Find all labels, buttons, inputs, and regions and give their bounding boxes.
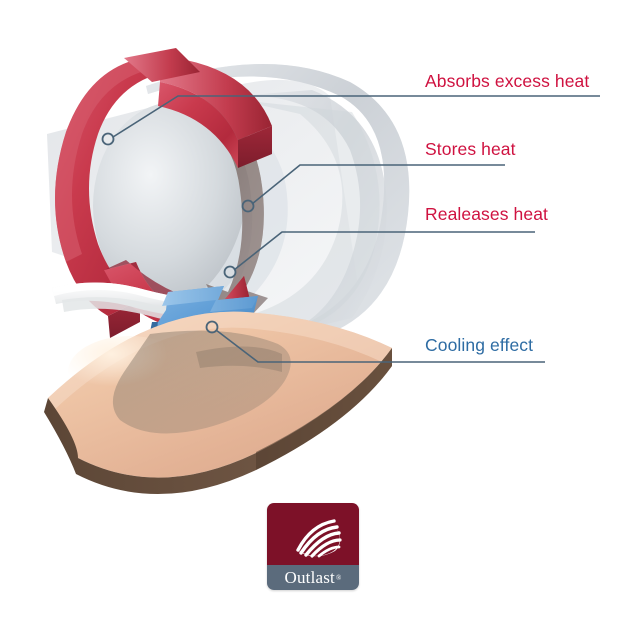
diagram-canvas: Absorbs excess heat Stores heat Realease…: [0, 0, 625, 625]
logo-wordmark: Outlast®: [267, 565, 359, 590]
callout-label-cooling: Cooling effect: [425, 337, 533, 355]
callout-label-stores: Stores heat: [425, 141, 516, 159]
logo-swoosh-icon: [267, 503, 359, 565]
callout-label-releases: Realeases heat: [425, 206, 548, 224]
skin-layer: [44, 312, 392, 494]
registered-mark: ®: [336, 574, 342, 582]
callout-label-absorbs: Absorbs excess heat: [425, 73, 589, 91]
logo-wordmark-text: Outlast: [284, 568, 335, 588]
outlast-logo: Outlast®: [267, 503, 359, 590]
logo-mark-background: [267, 503, 359, 565]
